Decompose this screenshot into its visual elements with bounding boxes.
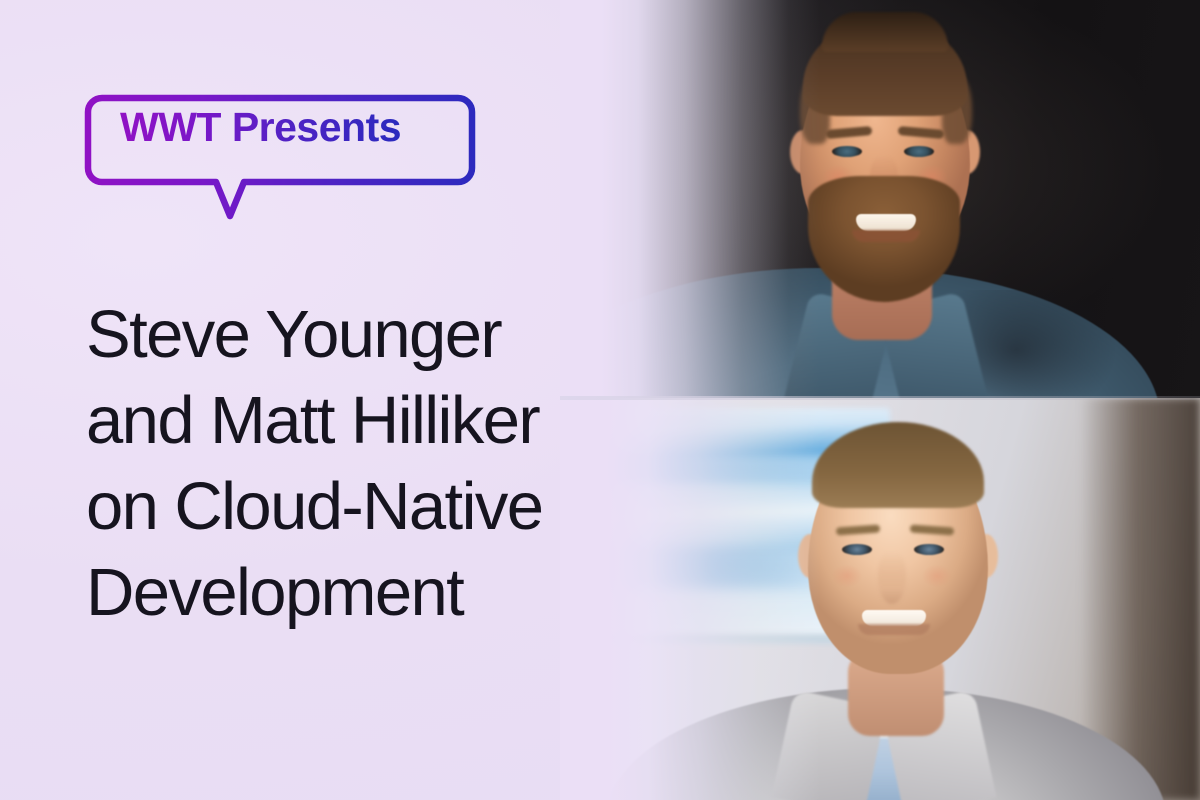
portrait-cheek-right — [916, 560, 958, 592]
promo-card: WWT Presents Steve Younger and Matt Hill… — [0, 0, 1200, 800]
headline-line-4: Development — [86, 550, 666, 636]
portrait-teeth — [856, 214, 916, 231]
portrait-lower-lip — [858, 624, 930, 635]
logo-text: WWT Presents — [120, 104, 401, 151]
wwt-presents-logo: WWT Presents — [84, 78, 484, 228]
portrait-eye-right — [914, 544, 944, 555]
portrait-cheek-left — [826, 560, 868, 592]
headline-line-3: on Cloud-Native — [86, 464, 666, 550]
headline: Steve Younger and Matt Hilliker on Cloud… — [86, 292, 666, 636]
portrait-hair-top — [822, 12, 948, 52]
portrait-eye-left — [832, 146, 862, 157]
headline-line-2: and Matt Hilliker — [86, 378, 666, 464]
headline-line-1: Steve Younger — [86, 292, 666, 378]
portrait-lower-lip — [852, 230, 920, 242]
portrait-nose — [878, 552, 906, 604]
portrait-eye-right — [904, 146, 934, 157]
portrait-eye-left — [842, 544, 872, 555]
